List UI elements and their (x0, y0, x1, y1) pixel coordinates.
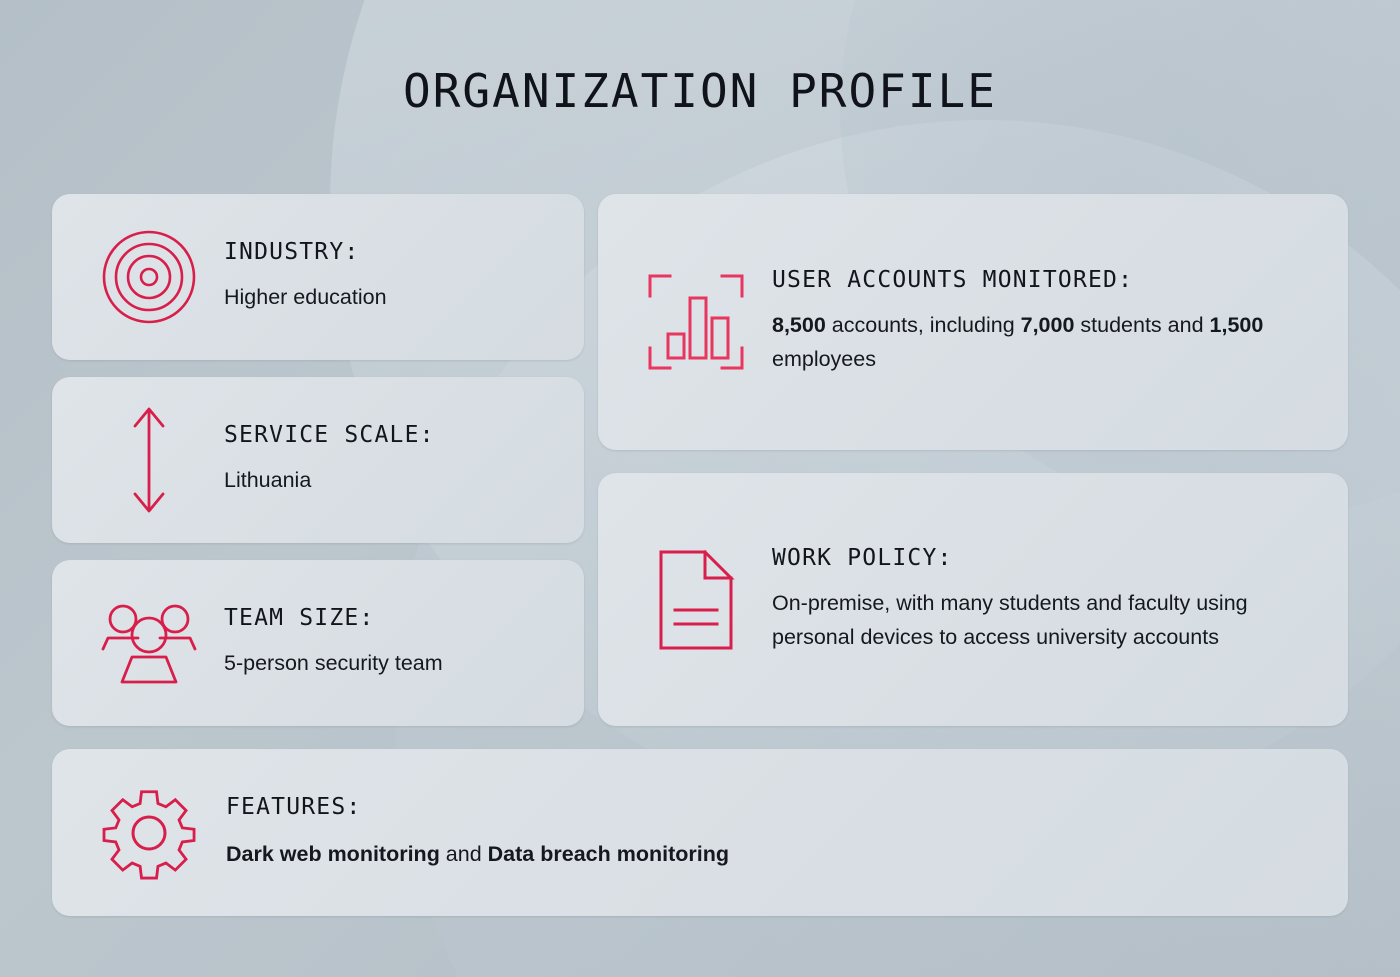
card-service-scale-label: SERVICE SCALE: (224, 422, 562, 448)
scan-bar-chart-icon (620, 270, 772, 374)
card-user-accounts-monitored: USER ACCOUNTS MONITORED: 8,500 accounts,… (598, 194, 1348, 450)
document-icon (620, 548, 772, 652)
feature-first: Dark web monitoring (226, 842, 440, 866)
card-features: FEATURES: Dark web monitoring and Data b… (52, 749, 1348, 916)
card-service-scale-text: SERVICE SCALE: Lithuania (224, 422, 562, 498)
card-service-scale-value: Lithuania (224, 464, 562, 498)
card-features-text: FEATURES: Dark web monitoring and Data b… (224, 794, 1326, 872)
card-work-policy-value: On-premise, with many students and facul… (772, 587, 1257, 655)
vertical-double-arrow-icon (74, 400, 224, 520)
target-rings-icon (74, 228, 224, 326)
cards-grid: INDUSTRY: Higher education SERVICE SCALE… (52, 194, 1348, 916)
card-work-policy: WORK POLICY: On-premise, with many stude… (598, 473, 1348, 726)
card-features-value: Dark web monitoring and Data breach moni… (226, 838, 1326, 872)
card-team-size: TEAM SIZE: 5-person security team (52, 560, 584, 726)
card-team-size-value: 5-person security team (224, 647, 562, 681)
card-work-policy-label: WORK POLICY: (772, 545, 1326, 571)
card-user-accounts-text: USER ACCOUNTS MONITORED: 8,500 accounts,… (772, 267, 1326, 377)
gear-icon (74, 785, 224, 881)
card-industry-text: INDUSTRY: Higher education (224, 239, 562, 315)
card-team-size-text: TEAM SIZE: 5-person security team (224, 605, 562, 681)
page-title: ORGANIZATION PROFILE (0, 64, 1400, 118)
feature-second: Data breach monitoring (488, 842, 729, 866)
people-group-icon (74, 597, 224, 689)
card-user-accounts-value: 8,500 accounts, including 7,000 students… (772, 309, 1326, 377)
organization-profile-infographic: ORGANIZATION PROFILE INDUSTRY: Higher ed… (0, 0, 1400, 977)
feature-conjunction: and (440, 842, 488, 866)
card-features-label: FEATURES: (226, 794, 1326, 820)
accounts-tail: employees (772, 347, 876, 371)
accounts-mid1: accounts, including (826, 313, 1021, 337)
card-industry-value: Higher education (224, 281, 562, 315)
card-service-scale: SERVICE SCALE: Lithuania (52, 377, 584, 543)
card-industry-label: INDUSTRY: (224, 239, 562, 265)
card-work-policy-text: WORK POLICY: On-premise, with many stude… (772, 545, 1326, 655)
accounts-students-count: 7,000 (1021, 313, 1075, 337)
accounts-mid2: students and (1074, 313, 1209, 337)
card-team-size-label: TEAM SIZE: (224, 605, 562, 631)
card-user-accounts-label: USER ACCOUNTS MONITORED: (772, 267, 1326, 293)
accounts-employees-count: 1,500 (1210, 313, 1264, 337)
accounts-total: 8,500 (772, 313, 826, 337)
card-industry: INDUSTRY: Higher education (52, 194, 584, 360)
